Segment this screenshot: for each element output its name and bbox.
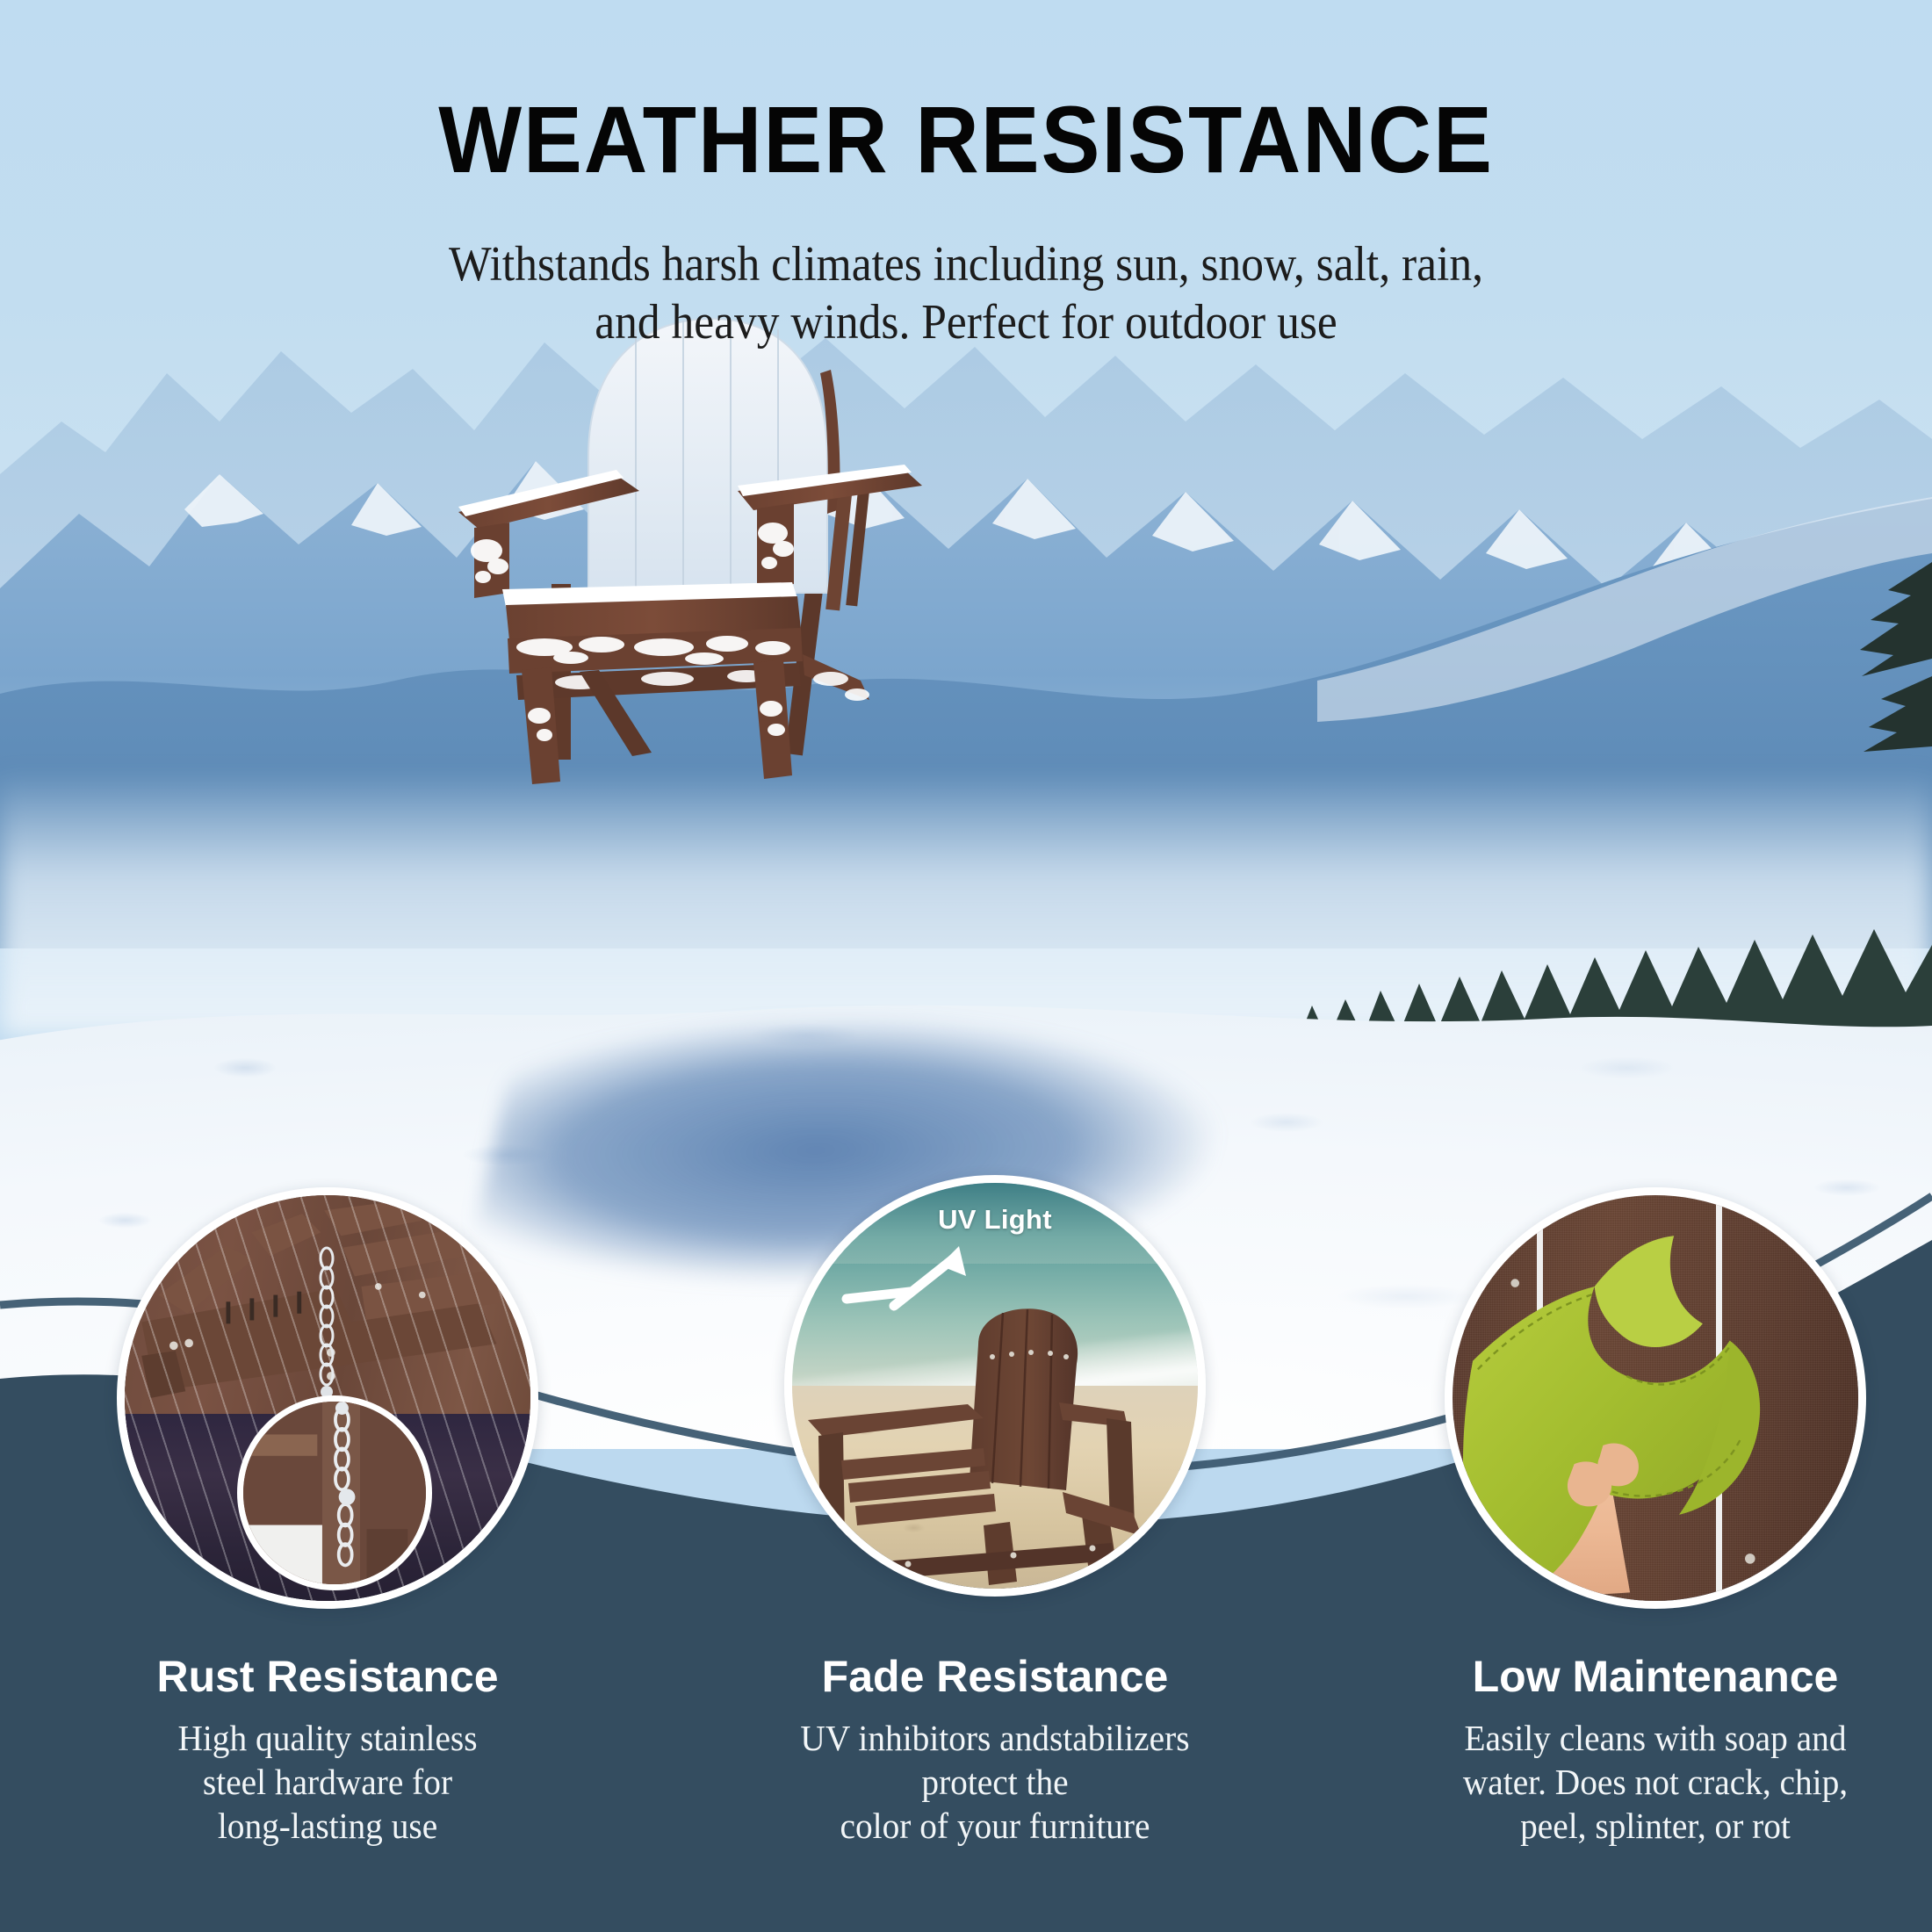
rust-body-line-1: High quality stainless [91,1716,564,1760]
uv-light-label: UV Light [792,1204,1198,1236]
rust-body-line-3: long-lasting use [91,1804,564,1848]
lm-body-line-2: water. Does not crack, chip, [1419,1760,1892,1804]
feature-title-fade: Fade Resistance [749,1651,1241,1702]
feature-body-low-maintenance: Easily cleans with soap and water. Does … [1419,1716,1892,1848]
product-feature-infographic: WEATHER RESISTANCE Withstands harsh clim… [0,0,1932,1932]
rust-body-line-2: steel hardware for [91,1760,564,1804]
feature-image-rust-resistance[interactable] [117,1187,538,1609]
fade-body-line-3: color of your furniture [759,1804,1231,1848]
feature-image-low-maintenance[interactable] [1445,1187,1866,1609]
feature-title-low-maintenance: Low Maintenance [1409,1651,1901,1702]
beach-adirondack-chair [803,1306,1198,1596]
pine-branch [1730,527,1932,817]
page-subtitle: Withstands harsh climates including sun,… [77,235,1855,351]
feature-body-rust: High quality stainless steel hardware fo… [91,1716,564,1848]
lm-body-line-1: Easily cleans with soap and [1419,1716,1892,1760]
fade-body-line-2: protect the [759,1760,1231,1804]
feature-text-rust-resistance: Rust Resistance High quality stainless s… [82,1651,573,1848]
feature-image-fade-resistance[interactable]: UV Light [784,1175,1206,1597]
rust-inset-closeup [237,1395,432,1590]
subtitle-line-1: Withstands harsh climates including sun,… [449,237,1483,292]
feature-body-fade: UV inhibitors andstabilizers protect the… [759,1716,1231,1848]
feature-title-rust: Rust Resistance [82,1651,573,1702]
feature-text-low-maintenance: Low Maintenance Easily cleans with soap … [1409,1651,1901,1848]
hand-with-cloth [1453,1195,1858,1601]
fade-body-line-1: UV inhibitors andstabilizers [759,1716,1231,1760]
page-title: WEATHER RESISTANCE [68,84,1864,194]
hero-adirondack-chair [448,303,940,795]
feature-text-fade-resistance: Fade Resistance UV inhibitors andstabili… [749,1651,1241,1848]
lm-body-line-3: peel, splinter, or rot [1419,1804,1892,1848]
subtitle-line-2: and heavy winds. Perfect for outdoor use [77,293,1855,351]
